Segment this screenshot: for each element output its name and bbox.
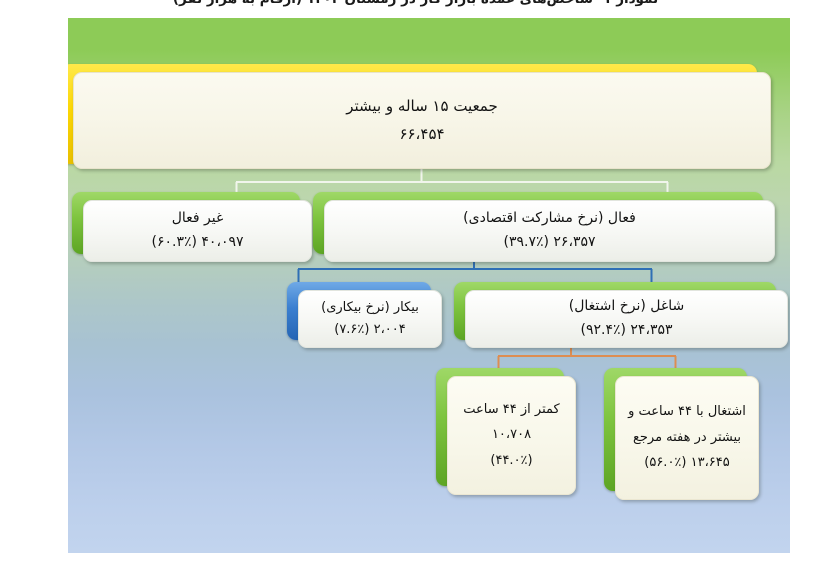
node-inactive[interactable]: غیر فعال ۴۰،۰۹۷ (۶۰.۳٪) (72, 192, 312, 262)
node-employed-label: شاغل (نرخ اشتغال) (569, 297, 684, 317)
node-population-value: ۶۶،۴۵۴ (399, 124, 444, 145)
node-active-value-rate: ۲۶،۳۵۷ (۳۹.۷٪) (503, 233, 595, 253)
node-over44-card[interactable]: اشتغال با ۴۴ ساعت و بیشتر در هفته مرجع ۱… (615, 376, 759, 500)
node-over44[interactable]: اشتغال با ۴۴ ساعت و بیشتر در هفته مرجع ۱… (604, 368, 759, 503)
figure-root: نمودار ۱- شاخص‌های عمده بازار کار در زمس… (0, 0, 831, 564)
node-over44-label-line1: اشتغال با ۴۴ ساعت و (628, 403, 746, 421)
node-unemployed-card[interactable]: بیکار (نرخ بیکاری) ۲،۰۰۴ (۷.۶٪) (298, 290, 442, 348)
node-unemployed-label: بیکار (نرخ بیکاری) (321, 299, 419, 317)
node-population-card[interactable]: جمعیت ۱۵ ساله و بیشتر ۶۶،۴۵۴ (73, 72, 771, 169)
node-under44-label: کمتر از ۴۴ ساعت (463, 401, 559, 419)
node-employed-value-rate: ۲۴،۳۵۳ (۹۲.۴٪) (580, 321, 672, 341)
diagram-canvas: جمعیت ۱۵ ساله و بیشتر ۶۶،۴۵۴ غیر فعال ۴۰… (68, 18, 790, 553)
node-inactive-label: غیر فعال (172, 209, 224, 229)
node-under44-value: ۱۰،۷۰۸ (492, 426, 531, 444)
node-population[interactable]: جمعیت ۱۵ ساله و بیشتر ۶۶،۴۵۴ (68, 64, 771, 170)
node-active[interactable]: فعال (نرخ مشارکت اقتصادی) ۲۶،۳۵۷ (۳۹.۷٪) (313, 192, 775, 262)
node-under44-card[interactable]: کمتر از ۴۴ ساعت ۱۰،۷۰۸ (۴۴.۰٪) (447, 376, 576, 495)
node-active-card[interactable]: فعال (نرخ مشارکت اقتصادی) ۲۶،۳۵۷ (۳۹.۷٪) (324, 200, 775, 262)
node-inactive-card[interactable]: غیر فعال ۴۰،۰۹۷ (۶۰.۳٪) (83, 200, 312, 262)
node-unemployed-value-rate: ۲،۰۰۴ (۷.۶٪) (334, 321, 406, 339)
node-active-label: فعال (نرخ مشارکت اقتصادی) (463, 209, 636, 229)
node-over44-label-line2: بیشتر در هفته مرجع (633, 429, 741, 447)
node-unemployed[interactable]: بیکار (نرخ بیکاری) ۲،۰۰۴ (۷.۶٪) (287, 282, 442, 352)
node-over44-value-rate: ۱۳،۶۴۵ (۵۶.۰٪) (644, 454, 729, 472)
node-employed-card[interactable]: شاغل (نرخ اشتغال) ۲۴،۳۵۳ (۹۲.۴٪) (465, 290, 788, 348)
node-employed[interactable]: شاغل (نرخ اشتغال) ۲۴،۳۵۳ (۹۲.۴٪) (454, 282, 788, 352)
figure-caption: نمودار ۱- شاخص‌های عمده بازار کار در زمس… (0, 0, 831, 7)
node-inactive-value-rate: ۴۰،۰۹۷ (۶۰.۳٪) (151, 233, 243, 253)
node-population-label: جمعیت ۱۵ ساله و بیشتر (346, 96, 498, 117)
node-under44-rate: (۴۴.۰٪) (490, 452, 532, 470)
node-under44[interactable]: کمتر از ۴۴ ساعت ۱۰،۷۰۸ (۴۴.۰٪) (436, 368, 576, 498)
